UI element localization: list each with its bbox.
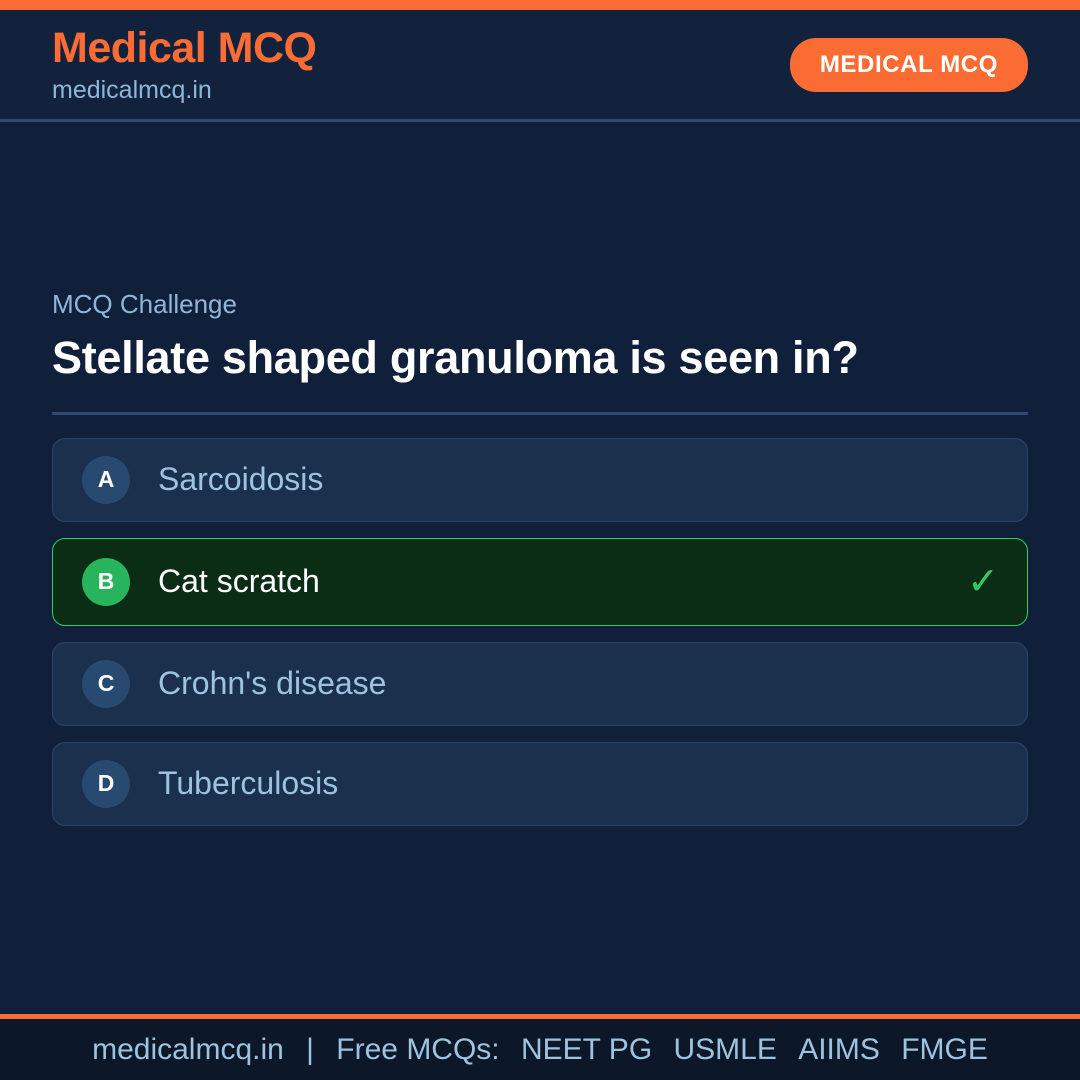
option-label: Cat scratch xyxy=(158,564,320,599)
footer-exam-fmge: FMGE xyxy=(888,1033,988,1066)
check-icon: ✓ xyxy=(967,563,999,601)
option-label: Sarcoidosis xyxy=(158,462,323,497)
option-a[interactable]: A Sarcoidosis xyxy=(52,438,1028,522)
footer-text: medicalmcq.in | Free MCQs: NEET PG USMLE… xyxy=(92,1033,988,1067)
footer-exam-neetpg: NEET PG xyxy=(508,1033,652,1066)
brand-subtitle: medicalmcq.in xyxy=(52,78,317,103)
brand: Medical MCQ medicalmcq.in xyxy=(52,27,317,103)
top-accent-bar xyxy=(0,0,1080,10)
main-content: MCQ Challenge Stellate shaped granuloma … xyxy=(0,122,1080,1014)
option-letter: C xyxy=(82,660,130,708)
footer-exam-aiims: AIIMS xyxy=(785,1033,880,1066)
option-letter: B xyxy=(82,558,130,606)
brand-badge: MEDICAL MCQ xyxy=(790,38,1028,92)
header: Medical MCQ medicalmcq.in MEDICAL MCQ xyxy=(0,10,1080,122)
options-list: A Sarcoidosis B Cat scratch ✓ C Crohn's … xyxy=(52,438,1028,826)
option-d[interactable]: D Tuberculosis xyxy=(52,742,1028,826)
footer-exam-usmle: USMLE xyxy=(661,1033,777,1066)
option-b[interactable]: B Cat scratch ✓ xyxy=(52,538,1028,626)
option-letter: A xyxy=(82,456,130,504)
option-letter: D xyxy=(82,760,130,808)
footer-site: medicalmcq.in xyxy=(92,1033,284,1066)
brand-title: Medical MCQ xyxy=(52,27,317,70)
footer-exams-label: Free MCQs: xyxy=(336,1033,499,1066)
option-label: Tuberculosis xyxy=(158,766,338,801)
question-kicker: MCQ Challenge xyxy=(52,290,1028,319)
option-label: Crohn's disease xyxy=(158,666,386,701)
question-block: MCQ Challenge Stellate shaped granuloma … xyxy=(52,290,1028,415)
question-title: Stellate shaped granuloma is seen in? xyxy=(52,331,952,384)
question-divider xyxy=(52,412,1028,415)
option-c[interactable]: C Crohn's disease xyxy=(52,642,1028,726)
mcq-card: Medical MCQ medicalmcq.in MEDICAL MCQ MC… xyxy=(0,0,1080,1080)
footer-separator: | xyxy=(292,1033,328,1066)
footer: medicalmcq.in | Free MCQs: NEET PG USMLE… xyxy=(0,1014,1080,1080)
